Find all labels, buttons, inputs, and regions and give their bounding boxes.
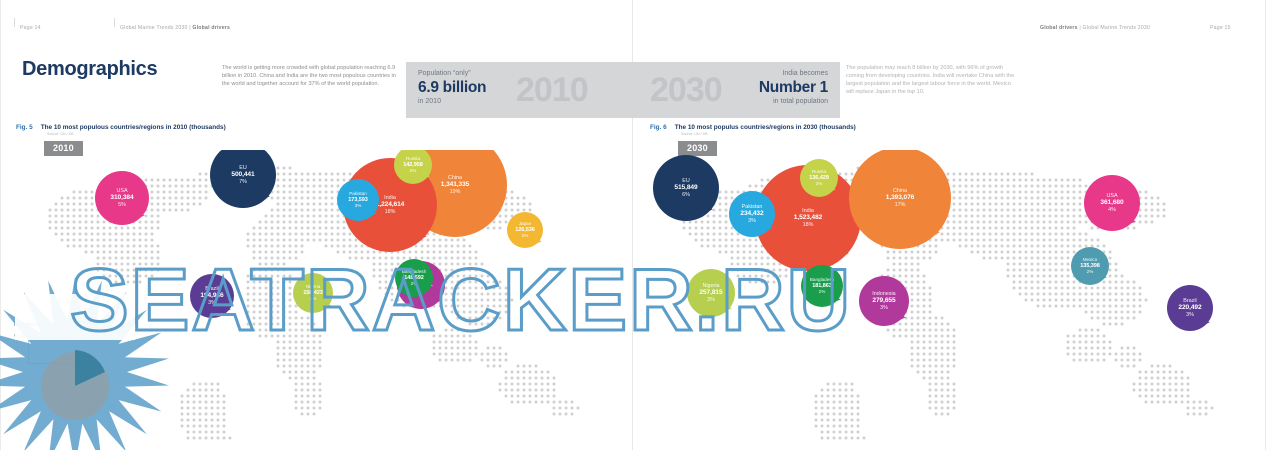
banner-year-2010: 2010 — [516, 66, 588, 114]
figure-source-5: Source: UN / DB — [47, 132, 226, 136]
breadcrumb-left-plain: Global Marine Trends 2030 | — [120, 25, 192, 31]
figure-title-6: The 10 most populus countries/regions in… — [675, 124, 856, 131]
banner-stat-right: India becomes Number 1 in total populati… — [759, 69, 828, 107]
header-rule-left — [14, 18, 15, 27]
breadcrumb-left-bold: Global drivers — [192, 25, 230, 31]
bubble-country-label: Pakistan — [742, 204, 763, 210]
header-rule-middle — [114, 18, 115, 27]
bubble-share-value: 17% — [895, 202, 906, 208]
bubble-share-value: 3% — [748, 218, 756, 224]
bubble-share-value: 3% — [355, 203, 362, 208]
bubble-population-value: 515,849 — [674, 184, 697, 192]
bubble-population-value: 1,523,482 — [794, 214, 822, 222]
banner-right-kicker: India becomes — [759, 69, 828, 79]
bubble-population-value: 500,441 — [231, 171, 254, 179]
banner-left-kicker: Population “only” — [418, 69, 486, 79]
bubble-share-value: 7% — [239, 179, 247, 185]
breadcrumb-right-plain: | Global Marine Trends 2030 — [1078, 25, 1150, 31]
breadcrumb-right: Global drivers | Global Marine Trends 20… — [1040, 25, 1150, 31]
watermark-text: SEATRACKER.RU — [70, 249, 1230, 351]
bubble-country-label: Russia — [406, 156, 420, 161]
bubble-country-label: China — [893, 188, 907, 194]
bubble-share-value: 5% — [118, 202, 126, 208]
intro-paragraph: The world is getting more crowded with g… — [222, 64, 400, 88]
bubble-pointer-usa — [1128, 219, 1136, 227]
bubble-share-value: 18% — [803, 222, 814, 228]
bubble-country-label: EU — [239, 165, 247, 171]
breadcrumb-left: Global Marine Trends 2030 | Global drive… — [120, 25, 230, 31]
outro-paragraph: The population may reach 8 billion by 20… — [846, 64, 1020, 96]
bubble-country-label: Pakistan — [349, 191, 367, 196]
bubble-population-value: 1,341,335 — [441, 181, 469, 189]
page-number-right-label: Page 15 — [1210, 25, 1231, 31]
spread-page: Page 14 Global Marine Trends 2030 | Glob… — [0, 0, 1266, 450]
bubble-country-label: China — [448, 175, 462, 181]
bubble-share-value: 2% — [816, 181, 823, 186]
figure-number-5: Fig. 5 — [16, 124, 33, 131]
bubble-share-value: 18% — [385, 209, 396, 215]
figure-source-6: Source: UN / DB — [681, 132, 856, 136]
figure-caption-5: Fig. 5The 10 most populous countries/reg… — [16, 124, 226, 136]
page-number-right: Page 15 — [1210, 25, 1231, 31]
page-number-left-label: Page 14 — [20, 25, 41, 31]
banner-left-lead: 6.9 billion — [418, 79, 486, 97]
bubble-share-value: 19% — [450, 189, 461, 195]
bubble-country-label: India — [802, 208, 814, 214]
banner-right-sub: in total population — [759, 97, 828, 107]
bubble-country-label: India — [384, 195, 396, 201]
bubble-share-value: 6% — [682, 192, 690, 198]
bubble-population-value: 1,393,076 — [886, 194, 914, 202]
figure-caption-6: Fig. 6The 10 most populus countries/regi… — [650, 124, 856, 136]
bubble-population-value: 361,680 — [1100, 199, 1123, 207]
bubble-pointer-japan — [534, 239, 542, 247]
figure-title-5: The 10 most populous countries/regions i… — [41, 124, 226, 131]
bubble-population-value: 1,224,614 — [376, 201, 404, 209]
breadcrumb-right-bold: Global drivers — [1040, 25, 1078, 31]
bubble-share-value: 2% — [410, 168, 417, 173]
banner-stat-left: Population “only” 6.9 billion in 2010 — [418, 69, 486, 107]
page-number-left: Page 14 — [20, 25, 41, 31]
page-title: Demographics — [22, 58, 157, 81]
bubble-country-label: USA — [116, 188, 127, 194]
bubble-country-label: Japan — [519, 221, 532, 226]
bubble-country-label: USA — [1106, 193, 1117, 199]
bubble-population-value: 234,432 — [740, 210, 763, 218]
bubble-population-value: 310,384 — [110, 194, 133, 202]
bubble-country-label: EU — [682, 178, 690, 184]
banner-right-lead: Number 1 — [759, 79, 828, 97]
page-edge-left — [0, 0, 1, 450]
figure-number-6: Fig. 6 — [650, 124, 667, 131]
bubble-country-label: Russia — [812, 169, 826, 174]
banner-year-2030: 2030 — [650, 66, 722, 114]
bubble-share-value: 2% — [522, 233, 529, 238]
bubble-share-value: 4% — [1108, 207, 1116, 213]
headline-banner: 2010 2030 Population “only” 6.9 billion … — [406, 62, 840, 118]
banner-left-sub: in 2010 — [418, 97, 486, 107]
